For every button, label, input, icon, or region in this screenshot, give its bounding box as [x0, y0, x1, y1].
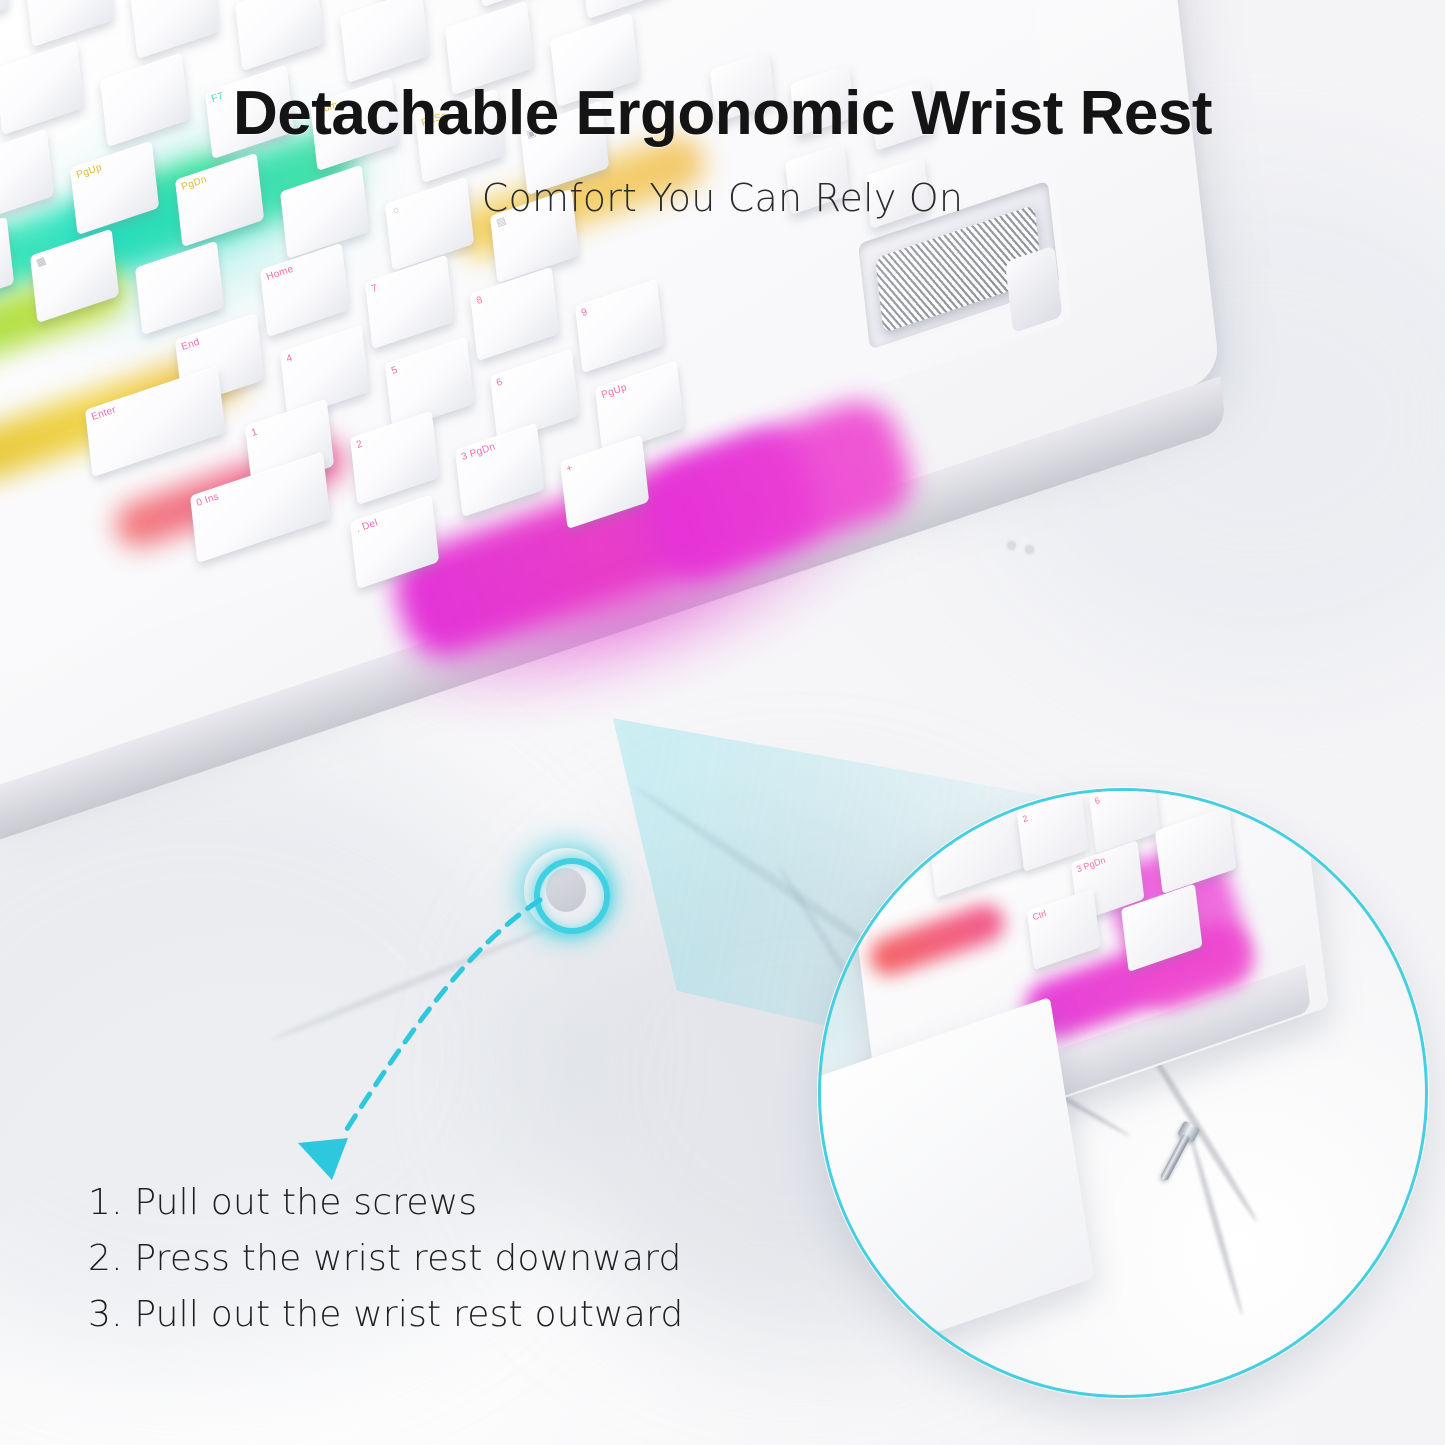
- keycap-legend: 8: [475, 295, 484, 307]
- keycap-legend: Shift: [933, 837, 953, 852]
- keycap-legend: Enter: [90, 404, 118, 422]
- keycap-legend: End: [180, 337, 201, 353]
- keycap-legend: 9: [580, 307, 589, 319]
- step-3: 3. Pull out the wrist rest outward: [88, 1287, 768, 1343]
- keycap-legend: PgUp: [600, 382, 628, 401]
- product-marketing-image: F7 Num PrtSc ▣ ▢ PgUp PgDn ☼ ▤ ▦: [0, 0, 1445, 1445]
- keycap-legend: 2: [1021, 813, 1029, 824]
- magnified-detail-view: Shift 2 6 3 PgDn Ctrl: [818, 788, 1428, 1398]
- keycap-legend: Ctrl: [1031, 908, 1047, 922]
- step-1: 1. Pull out the screws: [88, 1175, 768, 1231]
- indicator-led-caps: [1008, 542, 1015, 549]
- keycap-legend: 6: [1093, 795, 1101, 806]
- page-title: Detachable Ergonomic Wrist Rest: [0, 78, 1445, 149]
- page-subtitle: Comfort You Can Rely On: [0, 176, 1445, 220]
- keycap-legend: 4: [285, 353, 294, 365]
- keycap-legend: 5: [390, 365, 399, 377]
- keycap-legend: Home: [265, 264, 295, 283]
- step-2: 2. Press the wrist rest downward: [88, 1231, 768, 1287]
- keycap-legend: 2: [355, 439, 364, 451]
- pull-direction-arrow: [240, 860, 640, 1180]
- instruction-steps: 1. Pull out the screws 2. Press the wris…: [88, 1175, 768, 1342]
- keycap-legend: 0 Ins: [195, 491, 220, 509]
- indicator-led-num: [1026, 546, 1033, 553]
- keycap-legend: . Del: [355, 518, 379, 535]
- keycap-legend: 7: [370, 283, 379, 295]
- keycap-legend: +: [565, 463, 574, 475]
- keycap-legend: ▩: [35, 255, 48, 269]
- screw-shaft: [1160, 1133, 1191, 1181]
- keycap-legend: 6: [495, 377, 504, 389]
- keycap-legend: 1: [250, 427, 259, 439]
